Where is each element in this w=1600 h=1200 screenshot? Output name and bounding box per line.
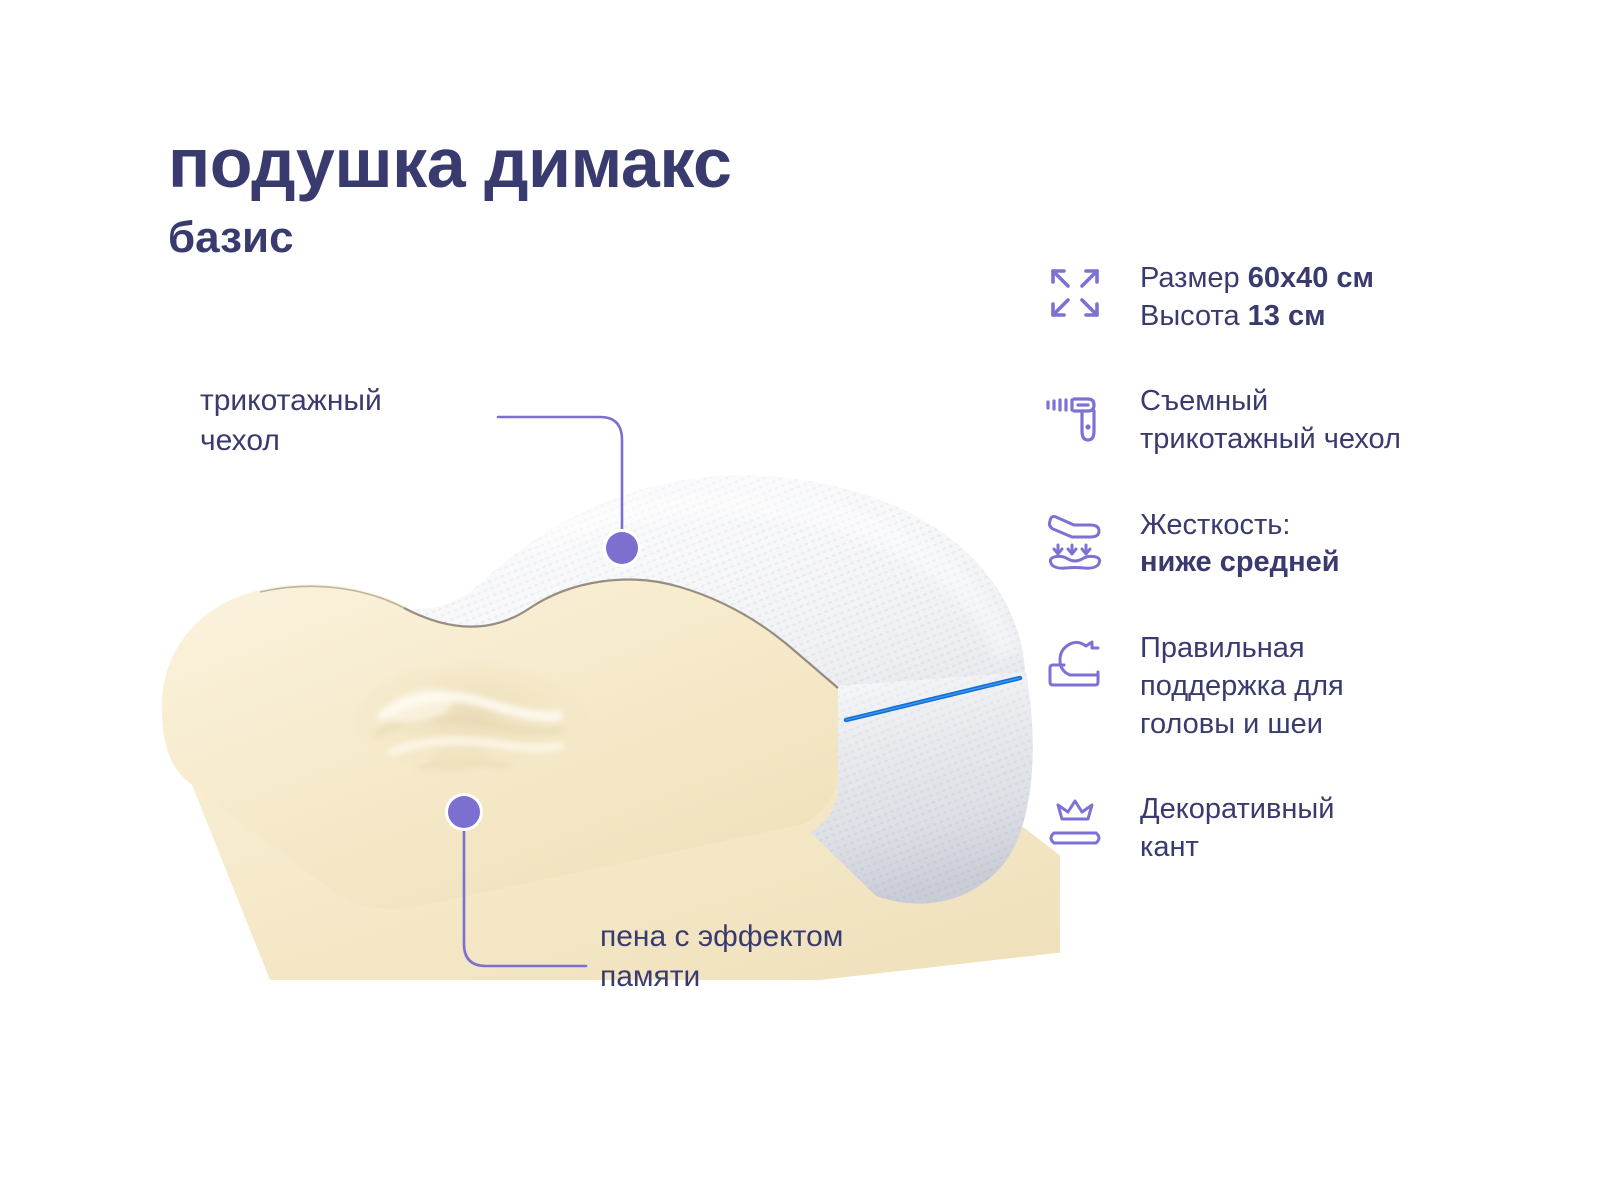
callout-knit-cover: трикотажный чехол bbox=[200, 381, 530, 460]
firmness-value: ниже средней bbox=[1140, 546, 1340, 578]
feature-dimensions: Размер 60x40 см Высота 13 см bbox=[1044, 258, 1544, 335]
callout-memory-foam-line-2: памяти bbox=[600, 960, 700, 993]
feature-head-neck-support-text: Правильная поддержка для головы и шеи bbox=[1140, 628, 1344, 743]
callout-memory-foam: пена с эффектом памяти bbox=[600, 917, 1000, 996]
callout-memory-foam-line-1: пена с эффектом bbox=[600, 920, 843, 953]
support-line-3: головы и шеи bbox=[1140, 706, 1344, 744]
piping-line-2: кант bbox=[1140, 829, 1334, 867]
page-title: подушка димакс bbox=[168, 128, 1048, 198]
head-on-pillow-icon bbox=[1044, 628, 1140, 694]
expand-arrows-icon bbox=[1044, 258, 1140, 324]
removable-cover-line-2: трикотажный чехол bbox=[1140, 421, 1401, 459]
pillow-illustration bbox=[120, 420, 1060, 980]
feature-firmness: Жесткость: ниже средней bbox=[1044, 505, 1544, 582]
feature-list: Размер 60x40 см Высота 13 см bbox=[1044, 258, 1544, 913]
feature-dimensions-text: Размер 60x40 см Высота 13 см bbox=[1140, 258, 1374, 335]
hand-imprint bbox=[354, 662, 590, 778]
piping-line-1: Декоративный bbox=[1140, 791, 1334, 829]
support-line-2: поддержка для bbox=[1140, 668, 1344, 706]
feature-decorative-piping-text: Декоративный кант bbox=[1140, 789, 1334, 866]
removable-cover-line-1: Съемный bbox=[1140, 383, 1401, 421]
feature-removable-cover: Съемный трикотажный чехол bbox=[1044, 381, 1544, 458]
crown-pillow-icon bbox=[1044, 789, 1140, 855]
feature-firmness-text: Жесткость: ниже средней bbox=[1140, 505, 1340, 582]
feature-removable-cover-text: Съемный трикотажный чехол bbox=[1140, 381, 1401, 458]
feature-head-neck-support: Правильная поддержка для головы и шеи bbox=[1044, 628, 1544, 743]
infographic-canvas: подушка димакс базис bbox=[0, 0, 1600, 1200]
dimensions-label: Размер bbox=[1140, 262, 1248, 294]
product-subtitle: базис bbox=[168, 216, 1048, 260]
zipper-icon bbox=[1044, 381, 1140, 447]
feature-decorative-piping: Декоративный кант bbox=[1044, 789, 1544, 866]
callout-knit-cover-line-1: трикотажный bbox=[200, 384, 382, 417]
dimensions-value: 60x40 см bbox=[1248, 262, 1374, 294]
height-label: Высота bbox=[1140, 300, 1248, 332]
support-line-1: Правильная bbox=[1140, 630, 1344, 668]
firmness-label: Жесткость: bbox=[1140, 507, 1340, 545]
hand-press-pillow-icon bbox=[1044, 505, 1140, 571]
title-block: подушка димакс базис bbox=[168, 128, 1048, 260]
height-value: 13 см bbox=[1248, 300, 1326, 332]
callout-knit-cover-line-2: чехол bbox=[200, 424, 280, 457]
